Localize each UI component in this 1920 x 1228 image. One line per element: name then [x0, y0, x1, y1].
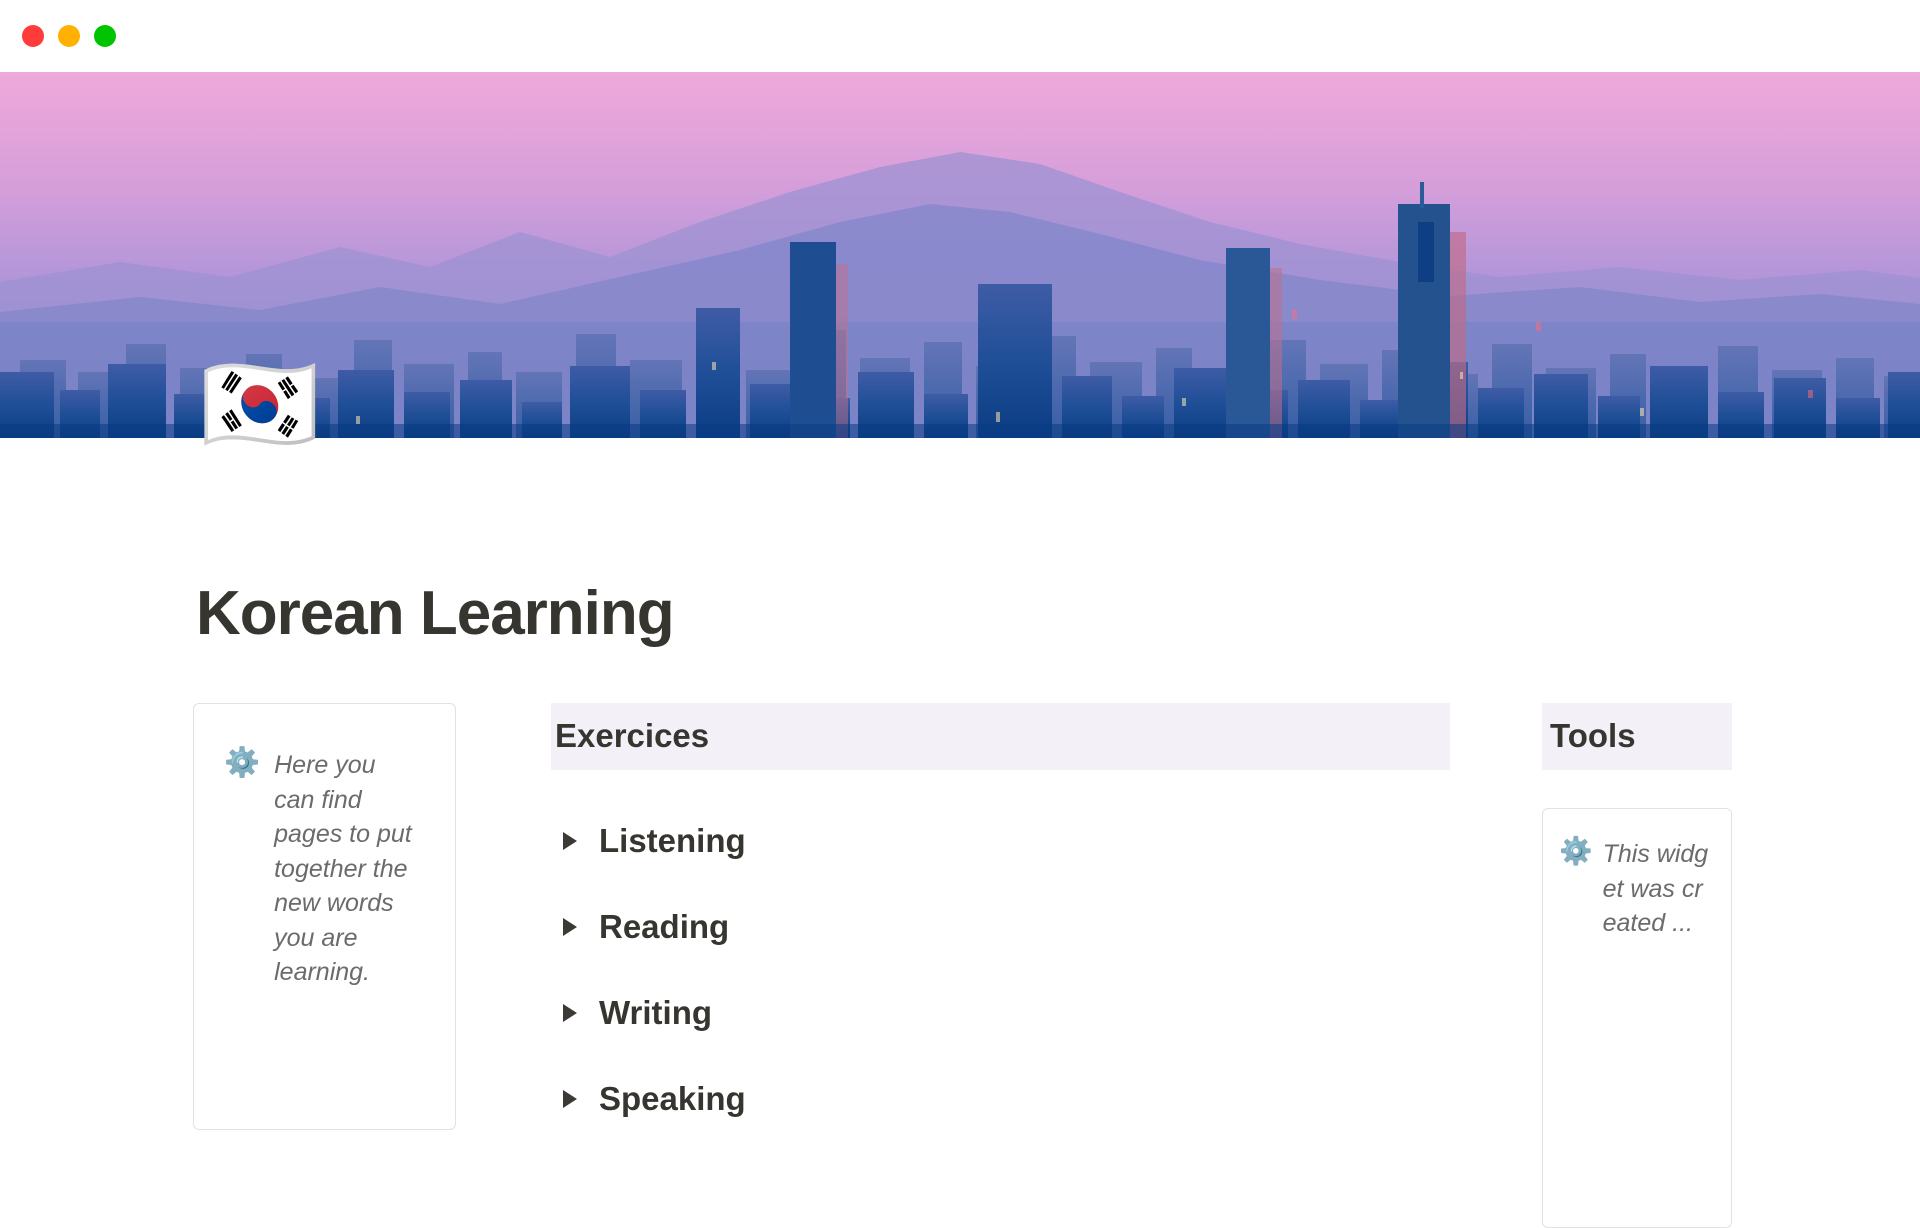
chevron-right-icon[interactable] — [557, 1004, 599, 1022]
tools-widget-card[interactable]: ⚙️ This widget was created ... — [1542, 808, 1732, 1228]
toggle-label: Listening — [599, 822, 746, 860]
exercices-heading-band: Exercices — [551, 703, 1450, 770]
toggle-label: Writing — [599, 994, 712, 1032]
south-korea-flag-emoji[interactable]: 🇰🇷 — [200, 357, 320, 453]
maximize-window-button[interactable] — [94, 25, 116, 47]
left-column: ⚙️ Here you can find pages to put togeth… — [193, 703, 456, 1130]
close-window-button[interactable] — [22, 25, 44, 47]
notes-widget-text: Here you can find pages to put together … — [274, 748, 419, 990]
tools-column: Tools ⚙️ This widget was created ... — [1542, 703, 1732, 1228]
gear-icon: ⚙️ — [224, 748, 260, 780]
gear-icon: ⚙️ — [1559, 837, 1593, 867]
toggle-label: Reading — [599, 908, 729, 946]
tools-widget-text: This widget was created ... — [1603, 837, 1713, 941]
page-content: Korean Learning ⚙️ Here you can find pag… — [0, 438, 1920, 1200]
toggle-item-writing[interactable]: Writing — [551, 970, 1450, 1056]
chevron-right-icon[interactable] — [557, 918, 599, 936]
window-title-bar — [0, 0, 1920, 72]
notes-widget-card[interactable]: ⚙️ Here you can find pages to put togeth… — [193, 703, 456, 1130]
toggle-item-listening[interactable]: Listening — [551, 798, 1450, 884]
minimize-window-button[interactable] — [58, 25, 80, 47]
toggle-label: Speaking — [599, 1080, 746, 1118]
exercices-toggle-list: Listening Reading Writing Speaking — [551, 798, 1450, 1142]
toggle-item-speaking[interactable]: Speaking — [551, 1056, 1450, 1142]
exercices-heading[interactable]: Exercices — [555, 715, 1450, 756]
chevron-right-icon[interactable] — [557, 832, 599, 850]
tools-heading[interactable]: Tools — [1550, 715, 1732, 756]
chevron-right-icon[interactable] — [557, 1090, 599, 1108]
page-title[interactable]: Korean Learning — [196, 578, 674, 649]
toggle-item-reading[interactable]: Reading — [551, 884, 1450, 970]
exercices-column: Exercices Listening Reading Writing Sp — [551, 703, 1450, 1142]
tools-heading-band: Tools — [1542, 703, 1732, 770]
